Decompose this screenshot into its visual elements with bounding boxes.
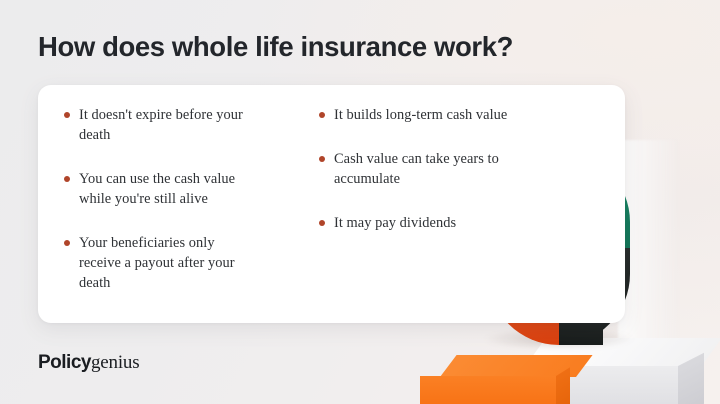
bullet-column-left: It doesn't expire before your death You …	[64, 105, 259, 317]
orange-block-face	[420, 376, 556, 404]
content-card: It doesn't expire before your death You …	[38, 85, 625, 323]
list-item-label: You can use the cash value while you're …	[79, 169, 259, 209]
list-item-label: It may pay dividends	[334, 213, 456, 233]
list-item: Cash value can take years to accumulate	[319, 149, 514, 189]
slide-canvas: How does whole life insurance work? It d…	[0, 0, 720, 404]
list-item-label: It doesn't expire before your death	[79, 105, 259, 145]
bullet-dot-icon	[64, 240, 70, 246]
bullet-dot-icon	[319, 156, 325, 162]
list-item-label: Your beneficiaries only receive a payout…	[79, 233, 259, 293]
list-item-label: It builds long-term cash value	[334, 105, 507, 125]
bullet-dot-icon	[319, 112, 325, 118]
list-item: You can use the cash value while you're …	[64, 169, 259, 209]
list-item: Your beneficiaries only receive a payout…	[64, 233, 259, 293]
brand-logo-bold: Policy	[38, 352, 91, 373]
bullet-columns: It doesn't expire before your death You …	[64, 105, 514, 317]
bullet-column-right: It builds long-term cash value Cash valu…	[319, 105, 514, 317]
list-item: It builds long-term cash value	[319, 105, 514, 125]
list-item: It may pay dividends	[319, 213, 514, 233]
page-title: How does whole life insurance work?	[38, 31, 513, 63]
bullet-dot-icon	[319, 220, 325, 226]
brand-logo-light: genius	[91, 352, 139, 373]
list-item: It doesn't expire before your death	[64, 105, 259, 145]
list-item-label: Cash value can take years to accumulate	[334, 149, 514, 189]
bullet-dot-icon	[64, 176, 70, 182]
bullet-dot-icon	[64, 112, 70, 118]
brand-logo: Policygenius	[38, 352, 139, 374]
